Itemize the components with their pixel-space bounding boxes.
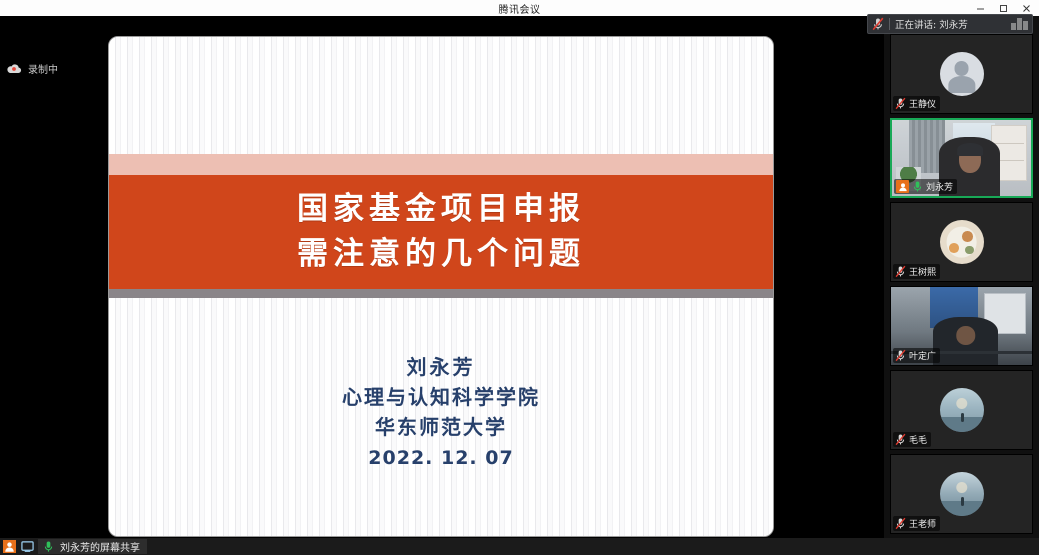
window-title: 腾讯会议 <box>499 1 541 16</box>
slide-title-line-2: 需注意的几个问题 <box>297 232 585 277</box>
taskbar[interactable]: 刘永芳的屏幕共享 <box>0 538 1039 555</box>
mic-icon <box>41 539 56 554</box>
audio-wave-icon <box>1011 18 1028 30</box>
active-speaker-bar[interactable]: 正在讲话: 刘永芳 <box>867 14 1033 34</box>
divider <box>889 18 890 30</box>
taskbar-screen-share-item[interactable]: 刘永芳的屏幕共享 <box>38 539 147 554</box>
slide-author-university: 华东师范大学 <box>109 412 773 442</box>
participant-tile[interactable]: 叶定广 <box>890 286 1033 366</box>
slide-band-bottom <box>109 289 773 298</box>
participant-name: 毛毛 <box>909 433 927 446</box>
participant-name-chip: 叶定广 <box>893 348 940 363</box>
participant-name-chip: 王树熙 <box>893 264 940 279</box>
cloud-recording-icon <box>6 63 22 74</box>
participant-name-chip: 王静仪 <box>893 96 940 111</box>
slide-author-department: 心理与认知科学学院 <box>109 382 773 412</box>
mic-muted-icon <box>895 517 906 530</box>
recording-indicator: 录制中 <box>6 61 58 76</box>
recording-label: 录制中 <box>28 61 58 76</box>
participant-name-chip: 王老师 <box>893 516 940 531</box>
participant-name: 王树熙 <box>909 265 936 278</box>
screen-share-stage: 录制中 国家基金项目申报 需注意的几个问题 刘永芳 心理与认知科学学院 华东师范… <box>0 16 884 538</box>
participant-tile[interactable]: 王老师 <box>890 454 1033 534</box>
avatar <box>940 220 984 264</box>
participant-name: 叶定广 <box>909 349 936 362</box>
participants-rail[interactable]: 王静仪 刘永芳 <box>884 16 1039 538</box>
participant-tile[interactable]: 毛毛 <box>890 370 1033 450</box>
mic-muted-icon <box>895 265 906 278</box>
avatar <box>940 388 984 432</box>
mic-muted-icon[interactable] <box>872 17 884 31</box>
screen-icon[interactable] <box>20 539 35 554</box>
mic-muted-icon <box>895 97 906 110</box>
taskbar-share-label: 刘永芳的屏幕共享 <box>60 539 140 554</box>
mic-muted-icon <box>895 433 906 446</box>
maximize-icon <box>998 3 1009 14</box>
slide-author-block: 刘永芳 心理与认知科学学院 华东师范大学 2022. 12. 07 <box>109 352 773 474</box>
slide-date: 2022. 12. 07 <box>109 442 773 474</box>
person-icon[interactable] <box>2 539 17 554</box>
mic-muted-icon <box>895 349 906 362</box>
participant-tile[interactable]: 王树熙 <box>890 202 1033 282</box>
participant-name-chip: 刘永芳 <box>894 179 957 194</box>
slide-author-name: 刘永芳 <box>109 352 773 382</box>
participant-name: 刘永芳 <box>926 180 953 193</box>
avatar <box>940 472 984 516</box>
participant-tile[interactable]: 刘永芳 <box>890 118 1033 198</box>
mic-on-icon <box>912 180 923 193</box>
participant-tile[interactable]: 王静仪 <box>890 34 1033 114</box>
participant-name-chip: 毛毛 <box>893 432 931 447</box>
meeting-window: 腾讯会议 录制中 <box>0 0 1039 555</box>
participant-name: 王静仪 <box>909 97 936 110</box>
presentation-slide[interactable]: 国家基金项目申报 需注意的几个问题 刘永芳 心理与认知科学学院 华东师范大学 2… <box>108 36 774 537</box>
close-icon <box>1021 3 1032 14</box>
participant-name: 王老师 <box>909 517 936 530</box>
slide-band-top <box>109 154 773 175</box>
active-speaker-label: 正在讲话: 刘永芳 <box>895 17 968 31</box>
slide-title-band: 国家基金项目申报 需注意的几个问题 <box>109 175 773 289</box>
slide-title-line-1: 国家基金项目申报 <box>297 187 585 232</box>
minimize-icon <box>975 3 986 14</box>
avatar <box>940 52 984 96</box>
host-icon <box>896 180 909 193</box>
